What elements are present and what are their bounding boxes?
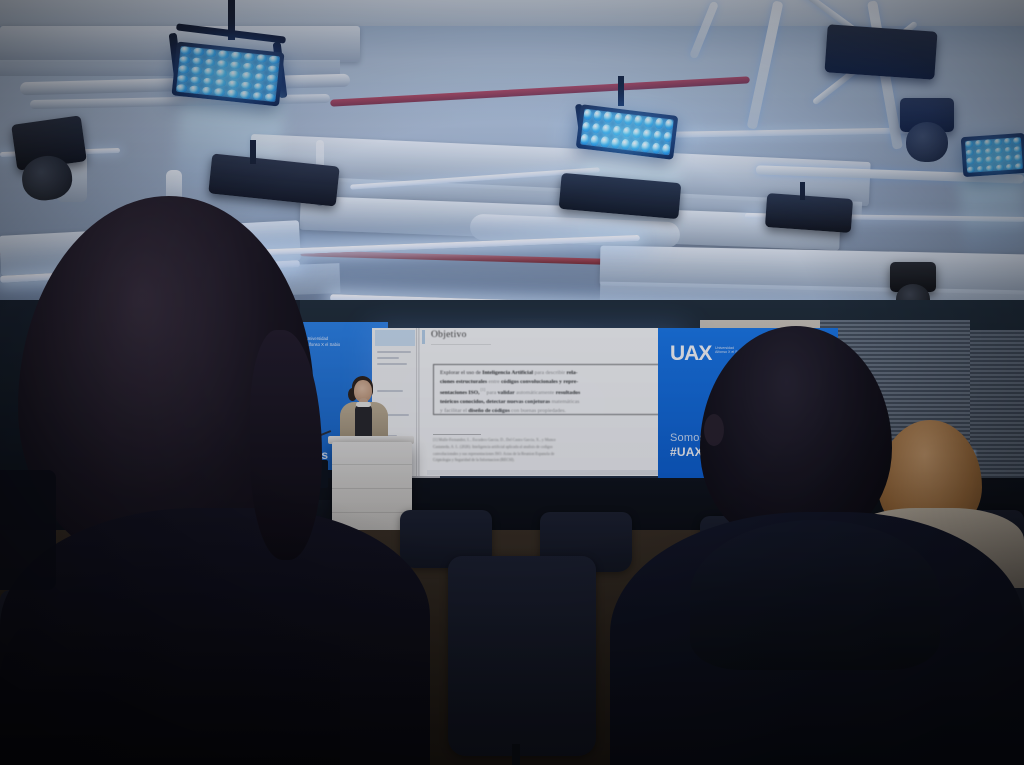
objective-line: ciones estructurales entre códigos convo… [440,378,655,387]
podium-seam [332,488,412,489]
podium-seam [332,512,412,513]
objective-line: y facilitar el diseño de códigos con bue… [440,407,655,416]
slide-status-bar [427,470,677,475]
conference-room-photo: ❯ Universidad Alfonso X el Sabio makers … [0,0,1024,765]
slide-sidebar-line [377,363,407,365]
uax-tagline-big: #UAX [670,445,703,459]
slide-title-accent-bar [422,330,425,344]
footnote-line: Criptologia y Seguridad de la Informacio… [433,457,556,464]
objective-line: teóricos conocidos, detectar nuevas conj… [440,398,655,407]
slide-sidebar-line [377,390,403,392]
person-right-ear [704,414,724,446]
left-foreground-object [0,470,56,590]
slide-sidebar-divider [416,328,417,476]
rollup-logo-subtitle: Universidad Alfonso X el Sabio [306,336,340,347]
slide-vertical-rule [419,328,420,476]
projection-screen: Objetivo Explorar el uso de Inteligencia… [372,328,686,476]
slide-objective-text: Explorar el uso de Inteligencia Artifici… [434,365,661,420]
chair-mid-center-leg [512,744,520,765]
slide-title-underline [431,344,491,345]
slide-canvas: Objetivo Explorar el uso de Inteligencia… [419,328,686,476]
slide-sidebar-line [377,357,399,359]
slide-sidebar-thumbnail [375,330,415,346]
slide-footnote-rule [433,434,481,435]
podium-seam [332,464,412,465]
uax-logo: UAX [670,342,711,366]
slide-footnote: [1] Mulle-Fernandez, L., Escudero Garcia… [433,437,556,464]
footnote-line: [1] Mulle-Fernandez, L., Escudero Garcia… [433,437,556,444]
person-right-hood [690,520,940,670]
objective-line: sentaciones ISO, [1] para validar automá… [440,387,655,398]
speaker-collar [356,402,371,407]
objective-line: Explorar el uso de Inteligencia Artifici… [440,369,655,378]
footnote-line: Castaneda, A. L. (2026). Inteligencia ar… [433,444,556,451]
slide-title: Objetivo [431,330,467,340]
slide-sidebar-line [377,351,411,353]
slide-objective-box: Explorar el uso de Inteligencia Artifici… [433,364,662,415]
chair-mid-center [448,556,596,756]
footnote-line: convolucionales y sus representaciones I… [433,451,556,458]
